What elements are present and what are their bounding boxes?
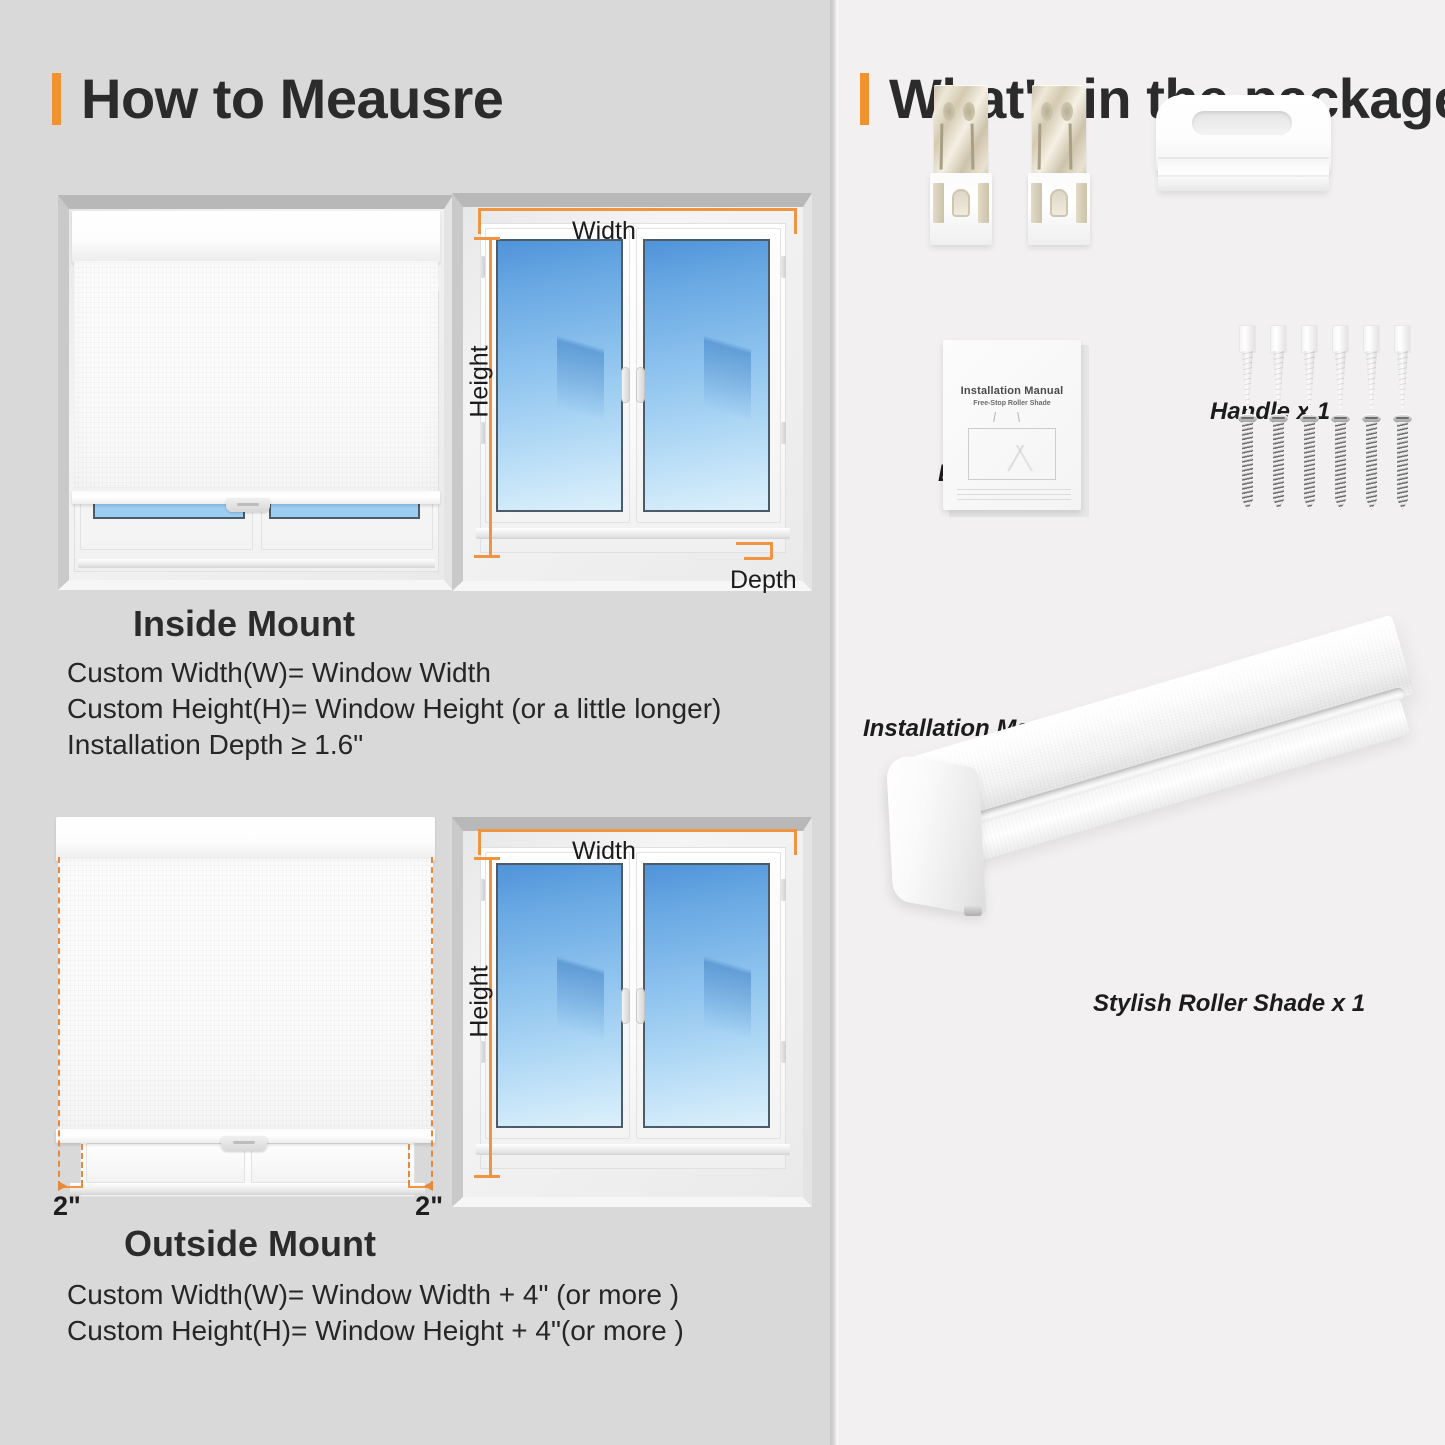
how-to-measure-heading: How to Meausre [52, 66, 503, 131]
wall-anchor-icon [1331, 325, 1350, 407]
how-to-measure-panel: How to Meausre [0, 0, 830, 1445]
window-handle-left-icon [622, 989, 629, 1023]
measure-hinge-tl-icon [480, 256, 485, 278]
outside-sash-left [86, 1143, 245, 1183]
width-measure-cap-right [794, 208, 797, 234]
bracket-tab-right [1076, 183, 1087, 223]
bracket-arms [1038, 124, 1073, 170]
infographic-page: How to Meausre [0, 0, 1445, 1445]
window-handle-right-icon [637, 368, 644, 402]
bracket-tab-right [978, 183, 989, 223]
roller-shade-pin [964, 906, 982, 916]
handle-grip-slot [1192, 111, 1292, 135]
measure-hinge-tl-icon [480, 879, 485, 901]
width-label-outside: Width [572, 837, 636, 866]
window-handle-right-icon [637, 989, 644, 1023]
height-label-outside: Height [466, 957, 495, 1047]
screw-icon [1331, 414, 1350, 510]
bracket-white-base [930, 173, 992, 245]
package-item-roller-shade [868, 620, 1413, 960]
width-label: Width [572, 217, 636, 246]
glass-reflection-icon [704, 241, 751, 510]
overhang-arrow-right-icon [424, 1181, 433, 1191]
shade-fabric [74, 261, 438, 493]
overhang-guide-right-inner [408, 1144, 410, 1186]
measure-glass-right-outside [643, 863, 770, 1128]
manual-cover-footer-text [957, 486, 1071, 500]
glass-reflection-icon [557, 865, 604, 1126]
bracket-white-base [1028, 173, 1090, 245]
screw-icon [1393, 414, 1412, 510]
measure-window-sill-outside [476, 1144, 790, 1155]
bracket-tab-left [933, 183, 944, 223]
manual-cover-image-box [968, 428, 1056, 480]
outside-window-sill [70, 1183, 425, 1195]
inside-mount-shade-illustration [58, 195, 453, 590]
screw-icon [1362, 414, 1381, 510]
roller-shade-end-cap [886, 752, 987, 916]
width-measure-line-outside [478, 829, 796, 832]
manual-cover-subtitle: Free-Stop Roller Shade [943, 400, 1081, 407]
overhang-guide-right-outer [431, 857, 433, 1187]
overhang-label-left: 2" [53, 1191, 81, 1222]
screw-icon [1269, 414, 1288, 510]
depth-measure-cap-bottom [744, 557, 772, 560]
height-measure-cap-bottom-outside [474, 1175, 500, 1178]
screw-icon [1300, 414, 1319, 510]
measure-hinge-br-icon [781, 1041, 786, 1063]
measure-hinge-br-icon [781, 422, 786, 444]
overhang-label-right: 2" [415, 1191, 443, 1222]
manual-icon: Installation Manual Free-Stop Roller Sha… [943, 340, 1081, 510]
outside-shade-pull-handle[interactable] [221, 1136, 267, 1151]
accent-bar-icon [860, 73, 869, 125]
measure-glass-right [643, 239, 770, 512]
outside-mount-measure-diagram: Width Height [452, 817, 812, 1207]
width-measure-cap-left-outside [478, 829, 481, 855]
height-measure-cap-top-outside [474, 857, 500, 860]
measure-glass-left [496, 239, 623, 512]
spec-line: Custom Height(H)= Window Height + 4"(or … [67, 1313, 684, 1349]
width-measure-cap-left [478, 208, 481, 234]
screw-icon [1238, 414, 1257, 510]
wall-anchor-icon [1362, 325, 1381, 407]
outside-mount-shade-illustration: 2" 2" [38, 809, 453, 1204]
outside-mount-section: 2" 2" [0, 795, 830, 1195]
measure-window-sill [476, 528, 790, 539]
package-contents-panel: What's in the package [838, 0, 1445, 1445]
measure-glass-left-outside [496, 863, 623, 1128]
width-measure-cap-right-outside [794, 829, 797, 855]
how-to-measure-title: How to Meausre [81, 66, 503, 131]
outside-mount-specs: Custom Width(W)= Window Width + 4" (or m… [67, 1277, 684, 1349]
wall-anchor-icon [1238, 325, 1257, 407]
package-label-roller-shade: Stylish Roller Shade x 1 [1093, 990, 1365, 1018]
bracket-icon [930, 85, 992, 245]
wall-anchor-icon [1393, 325, 1412, 407]
bracket-slot [1050, 189, 1068, 217]
inside-mount-diagrams: Width Height Depth [0, 185, 830, 585]
overhang-guide-left-outer [58, 857, 60, 1187]
spec-line: Custom Height(H)= Window Height (or a li… [67, 691, 721, 727]
roller-shade-icon [868, 620, 1413, 960]
wall-anchor-icon [1300, 325, 1319, 407]
shade-pull-handle[interactable] [226, 498, 270, 512]
handle-groove [1158, 157, 1329, 159]
bracket-arms [940, 124, 975, 170]
measure-window-unit [480, 223, 786, 553]
spec-line: Custom Width(W)= Window Width + 4" (or m… [67, 1277, 684, 1313]
height-measure-cap-bottom [474, 555, 500, 558]
inside-mount-section: Width Height Depth Inside Mount Custom W… [0, 185, 830, 585]
window-sill [78, 559, 435, 568]
window-handle-left-icon [622, 368, 629, 402]
width-measure-line [478, 208, 796, 211]
manual-cover-title: Installation Manual [943, 385, 1081, 397]
glass-reflection-icon [704, 865, 751, 1126]
panel-divider [830, 0, 838, 1445]
bracket-slot [952, 189, 970, 217]
height-measure-cap-top [474, 237, 500, 240]
wall-anchor-icon [1269, 325, 1288, 407]
bracket-tab-left [1031, 183, 1042, 223]
overhang-arrow-left-icon [58, 1181, 67, 1191]
shade-headrail [72, 211, 440, 263]
spec-line: Installation Depth ≥ 1.6" [67, 727, 721, 763]
depth-measure-cap-top [736, 542, 772, 545]
handle-groove [1158, 175, 1329, 177]
package-item-screws [1238, 325, 1438, 510]
measure-sash-left-outside [485, 852, 630, 1139]
outside-mount-diagrams: 2" 2" [0, 795, 830, 1195]
depth-label: Depth [730, 566, 797, 595]
height-label: Height [466, 337, 495, 427]
measure-sash-right-outside [636, 852, 781, 1139]
spec-line: Custom Width(W)= Window Width [67, 655, 721, 691]
package-item-handle [1156, 95, 1331, 210]
outside-shade-fabric [58, 859, 433, 1131]
measure-window-unit-outside [480, 847, 786, 1169]
measure-sash-left [485, 228, 630, 523]
accent-bar-icon [52, 73, 61, 125]
overhang-guide-left-inner [81, 1144, 83, 1186]
depth-measure-line [770, 542, 773, 559]
measure-hinge-tr-icon [781, 256, 786, 278]
measure-sash-right [636, 228, 781, 523]
glass-reflection-icon [557, 241, 604, 510]
package-item-brackets [930, 85, 1130, 265]
manual-cover-scribble [983, 412, 1041, 422]
measure-hinge-tr-icon [781, 879, 786, 901]
package-item-manual: Installation Manual Free-Stop Roller Sha… [943, 340, 1093, 520]
outside-sash-right [251, 1143, 410, 1183]
outside-mount-title: Outside Mount [124, 1223, 376, 1265]
inside-mount-specs: Custom Width(W)= Window Width Custom Hei… [67, 655, 721, 762]
outside-shade-headrail [56, 817, 435, 861]
inside-mount-measure-diagram: Width Height Depth [452, 193, 812, 591]
inside-mount-title: Inside Mount [133, 603, 355, 645]
bracket-icon [1028, 85, 1090, 245]
